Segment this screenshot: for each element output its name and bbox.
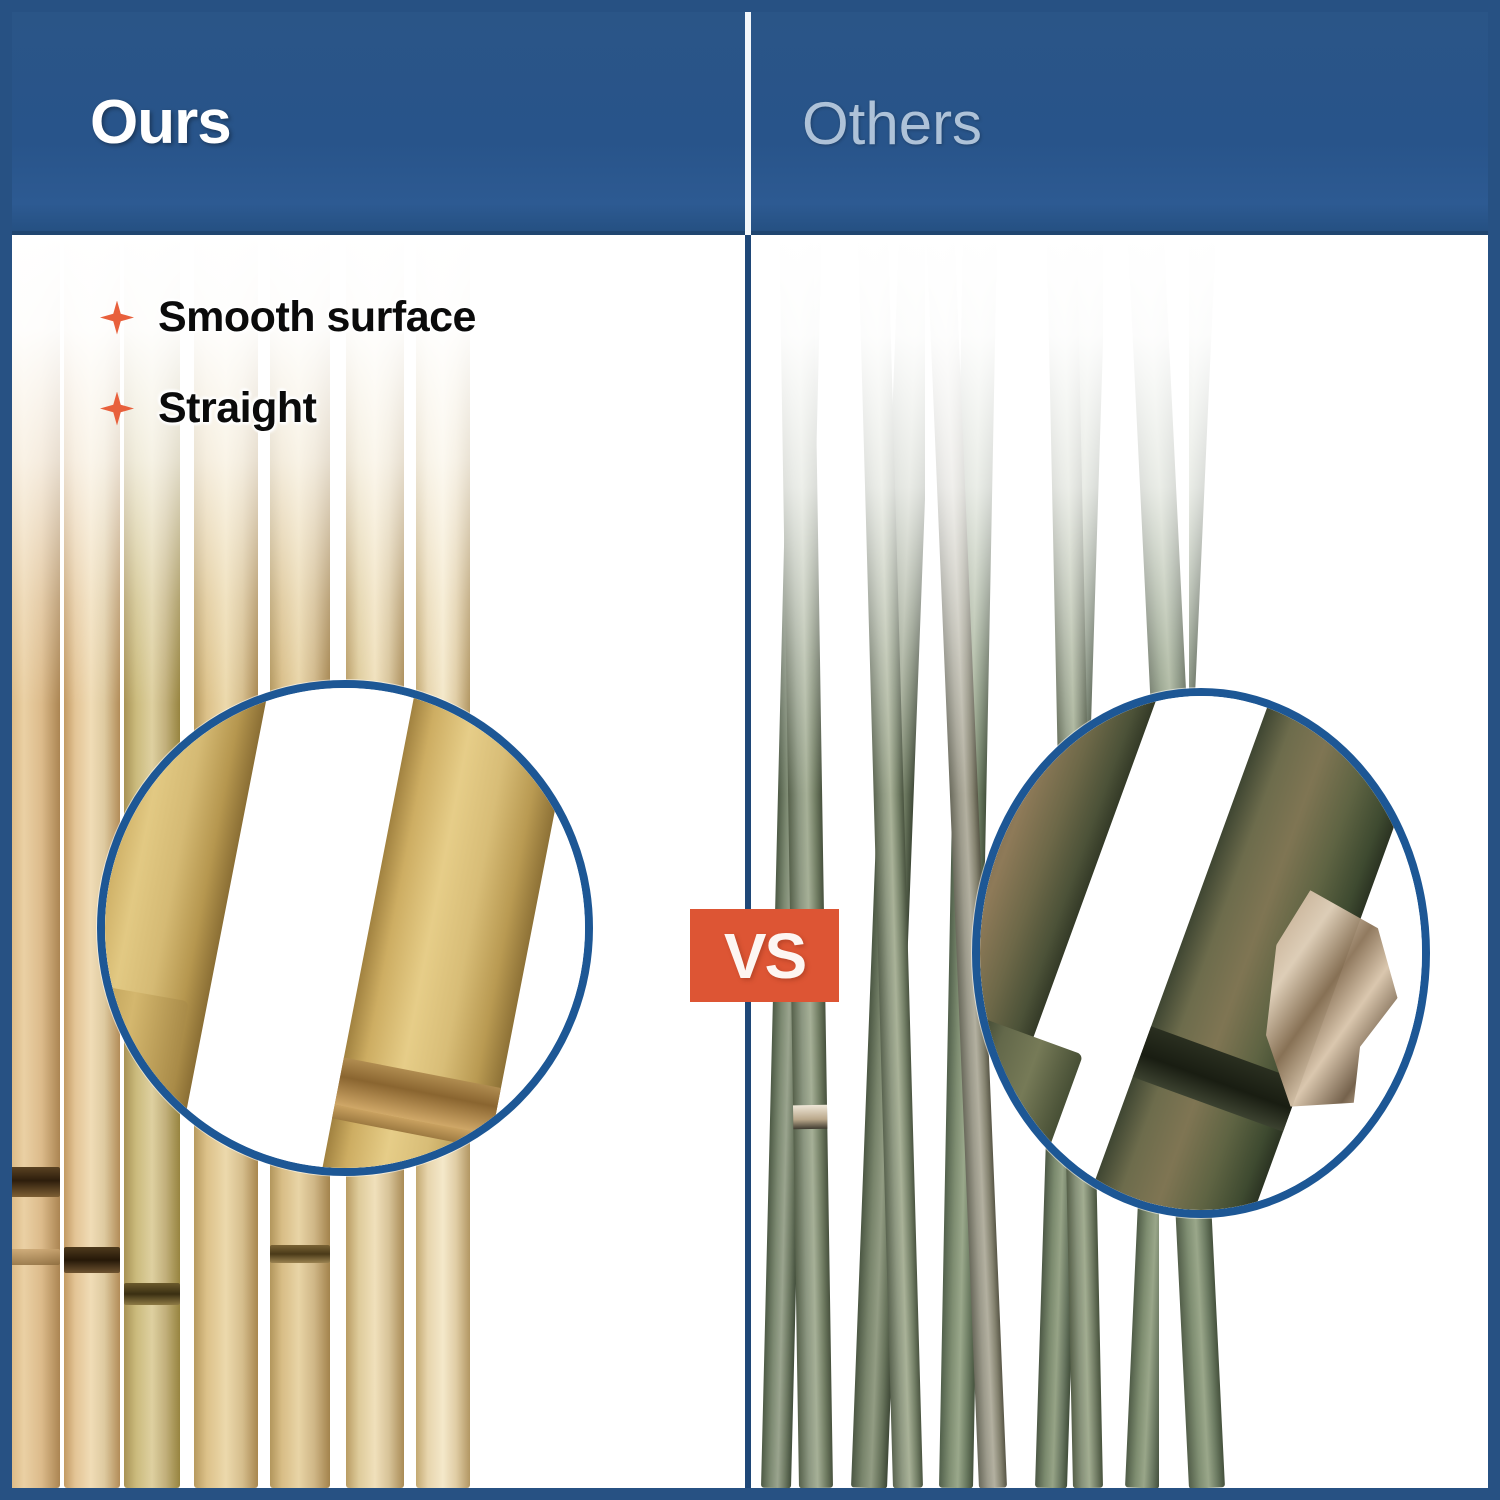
vs-label: VS — [724, 924, 805, 988]
ours-title: Ours — [90, 92, 231, 154]
list-item: Smooth surface — [100, 293, 476, 342]
vs-badge: VS — [690, 909, 839, 1002]
bullet-label: Straight — [158, 384, 316, 433]
ours-magnifier-circle — [97, 680, 593, 1176]
panel-divider — [745, 235, 751, 1488]
list-item: Straight — [100, 384, 476, 433]
rough-burr-cane-closeup — [980, 696, 1422, 1210]
others-magnifier-circle — [972, 688, 1430, 1218]
bullet-label: Smooth surface — [158, 293, 476, 342]
orange-star-bullet-icon — [100, 301, 134, 335]
others-title: Others — [802, 94, 982, 154]
ours-bullet-list: Smooth surface Straight — [100, 293, 476, 475]
smooth-cane-closeup — [105, 688, 585, 1168]
comparison-infographic: Ours Others — [0, 0, 1500, 1500]
header-divider — [745, 12, 751, 235]
orange-star-bullet-icon — [100, 392, 134, 426]
